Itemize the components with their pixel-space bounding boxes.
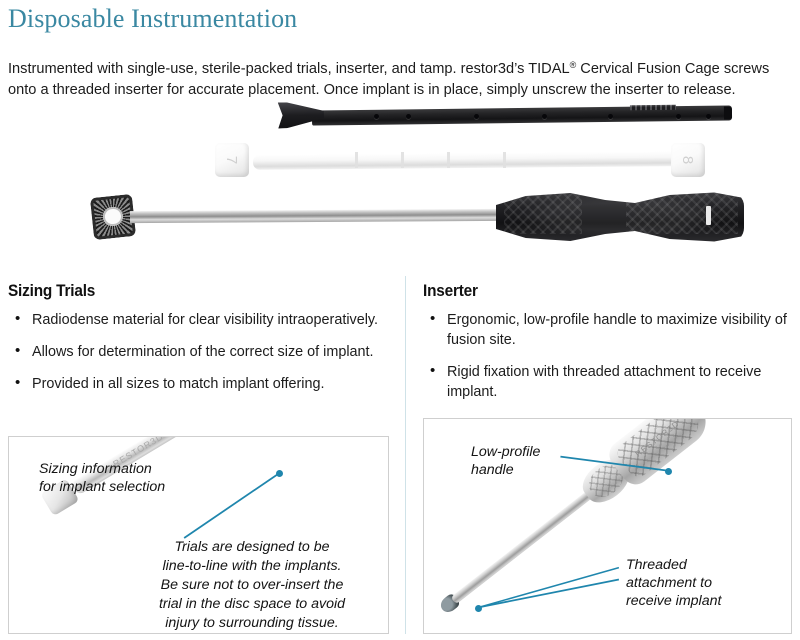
inserter-bullet-list: Ergonomic, low-profile handle to maximiz… xyxy=(423,310,792,402)
tamp-hole xyxy=(474,114,479,119)
sizing-trial-size-marking: 8 xyxy=(671,143,705,177)
sizing-trials-bullet-list: Radiodense material for clear visibility… xyxy=(8,310,390,394)
sizing-trials-section: Sizing Trials Radiodense material for cl… xyxy=(8,282,390,406)
hero-product-photo: 7 8 xyxy=(0,92,800,257)
callout-line-low-profile-handle xyxy=(560,457,666,471)
tamp-hole xyxy=(406,114,411,119)
tamp-instrument-photo xyxy=(278,96,748,136)
tamp-hole xyxy=(676,114,681,119)
inserter-heading: Inserter xyxy=(423,282,766,301)
sizing-trial-figure-panel: RESTOR3D Sizing information for implant … xyxy=(8,436,389,634)
sizing-trial-head-left: 7 xyxy=(215,143,249,177)
callout-line-threaded-attachment xyxy=(479,580,619,608)
sizing-trial-head-right: 8 xyxy=(671,143,705,177)
list-item: Ergonomic, low-profile handle to maximiz… xyxy=(423,310,792,350)
callout-label-sizing-info: Sizing information for implant selection xyxy=(39,460,165,496)
sizing-trials-heading: Sizing Trials xyxy=(8,282,363,301)
callout-dot-handle xyxy=(665,468,672,475)
callout-dot-sizing-info xyxy=(276,470,283,477)
sizing-trial-shaft xyxy=(253,151,677,170)
inserter-instrument-photo xyxy=(92,188,762,246)
callout-label-threaded-attachment: Threaded attachment to receive implant xyxy=(626,556,721,610)
tamp-hole xyxy=(608,114,613,119)
callout-label-low-profile-handle: Low-profile handle xyxy=(471,443,540,479)
sizing-trial-band xyxy=(355,152,358,168)
trial-usage-note: Trials are designed to be line-to-line w… xyxy=(127,538,377,633)
list-item: Provided in all sizes to match implant o… xyxy=(8,374,390,394)
inserter-grip-texture xyxy=(504,192,582,234)
sizing-trial-instrument-photo: 7 8 xyxy=(215,138,715,184)
list-item: Radiodense material for clear visibility… xyxy=(8,310,390,330)
tamp-knurl-marking xyxy=(630,105,676,111)
inserter-figure-panel: RESTOR3D Low-profile handle Threaded att… xyxy=(423,418,792,634)
sizing-trial-band xyxy=(503,152,506,168)
callout-line-threaded-attachment-2 xyxy=(479,568,619,608)
inserter-handle-slot xyxy=(706,206,711,225)
sizing-trial-size-marking: 7 xyxy=(215,143,249,177)
sizing-trial-band xyxy=(401,152,404,168)
column-divider xyxy=(405,276,406,634)
sizing-trial-band xyxy=(447,152,450,168)
inserter-grip-texture xyxy=(626,192,738,234)
tamp-hole xyxy=(706,114,711,119)
inserter-section: Inserter Ergonomic, low-profile handle t… xyxy=(423,282,792,414)
inserter-shaft xyxy=(130,209,502,223)
tamp-hole xyxy=(542,114,547,119)
tamp-hole xyxy=(374,114,379,119)
callout-dot-threaded-tip xyxy=(475,605,482,612)
page-title: Disposable Instrumentation xyxy=(8,4,297,34)
list-item: Rigid fixation with threaded attachment … xyxy=(423,362,792,402)
list-item: Allows for determination of the correct … xyxy=(8,342,390,362)
intro-text-part1: Instrumented with single-use, sterile-pa… xyxy=(8,61,570,77)
callout-line-sizing-info xyxy=(184,475,277,538)
